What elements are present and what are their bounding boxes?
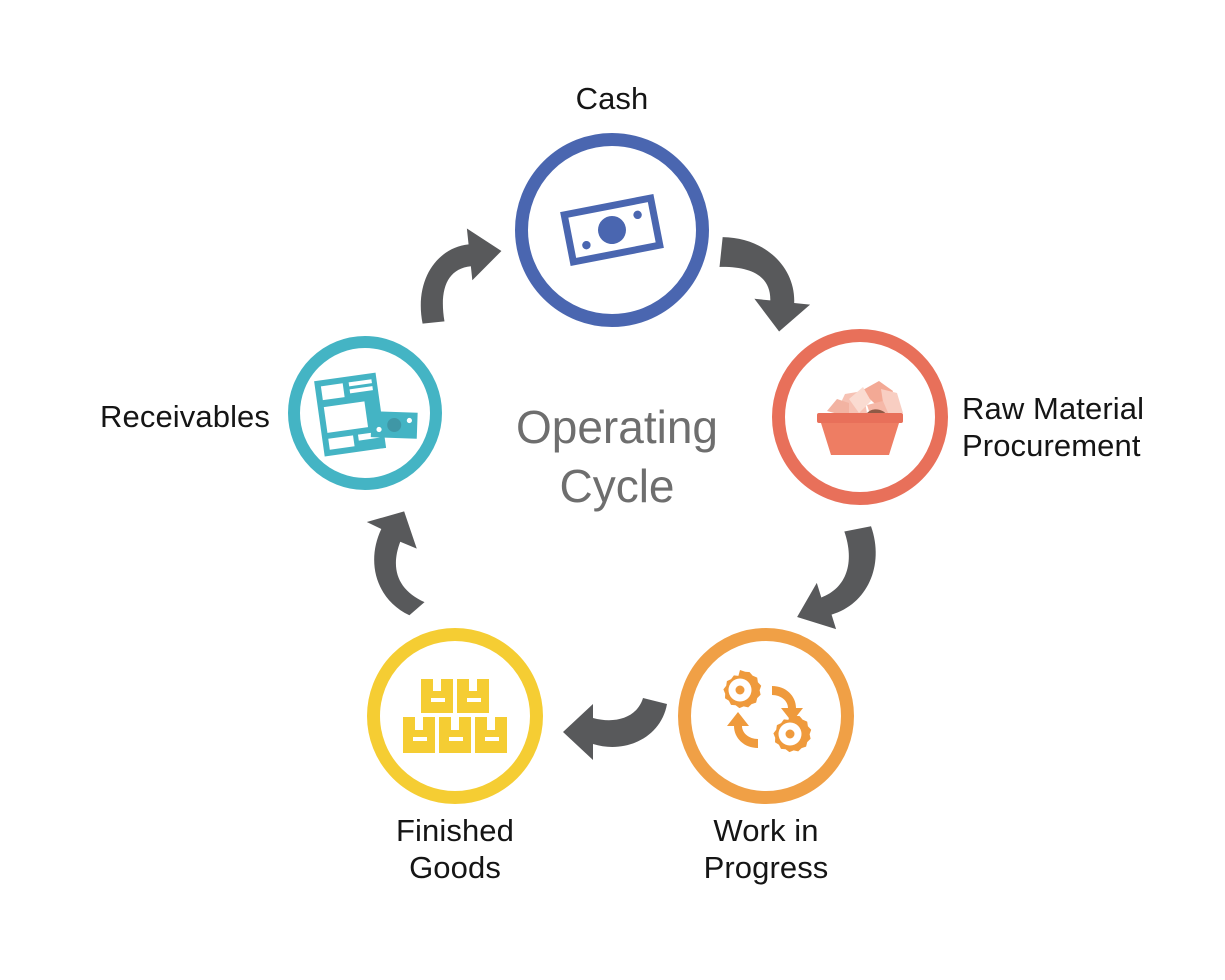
label-receivables: Receivables bbox=[42, 398, 270, 435]
label-raw-material-procurement: Raw Material Procurement bbox=[962, 390, 1222, 464]
label-finished-goods: Finished Goods bbox=[344, 812, 566, 886]
label-cash: Cash bbox=[505, 80, 719, 117]
invoice-and-banknote-icon bbox=[300, 348, 430, 478]
node-receivables[interactable] bbox=[288, 336, 442, 490]
basket-of-rocks-icon bbox=[785, 342, 935, 492]
diagram-stage: Operating Cycle bbox=[0, 0, 1225, 980]
arrow-wip-to-finished-goods bbox=[563, 692, 673, 772]
banknote-icon bbox=[528, 146, 696, 314]
arrow-finished-goods-to-receivables bbox=[342, 512, 452, 622]
node-finished-goods[interactable] bbox=[367, 628, 543, 804]
node-work-in-progress[interactable] bbox=[678, 628, 854, 804]
arrow-receivables-to-cash bbox=[400, 228, 510, 328]
gears-cycle-icon bbox=[691, 641, 841, 791]
stacked-boxes-icon bbox=[380, 641, 530, 791]
arrow-cash-to-raw-material bbox=[712, 232, 822, 332]
arrow-raw-material-to-wip bbox=[792, 518, 902, 628]
center-title: Operating Cycle bbox=[452, 398, 782, 516]
operating-cycle-diagram: Operating Cycle bbox=[0, 0, 1225, 980]
node-cash[interactable] bbox=[515, 133, 709, 327]
label-work-in-progress: Work in Progress bbox=[655, 812, 877, 886]
node-raw-material-procurement[interactable] bbox=[772, 329, 948, 505]
